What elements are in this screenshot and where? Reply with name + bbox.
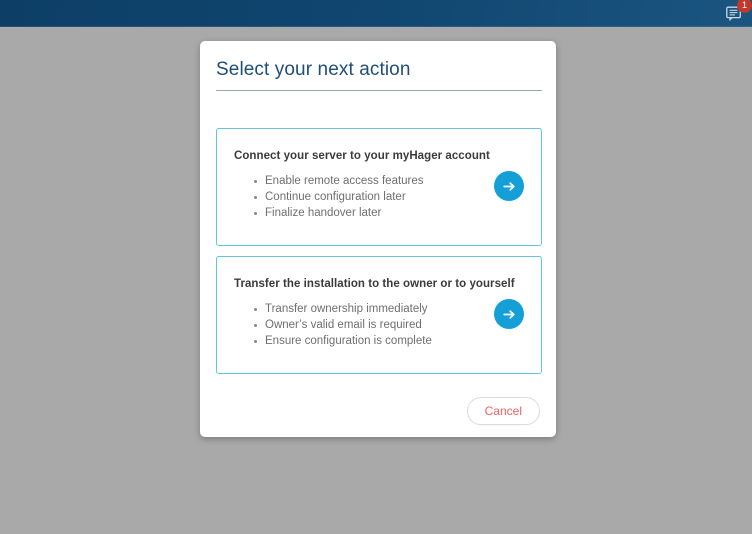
top-header-bar: 1 [0, 0, 752, 27]
cancel-button[interactable]: Cancel [467, 397, 540, 425]
list-item: Continue configuration later [265, 189, 424, 205]
notification-badge: 1 [737, 0, 752, 13]
action-card-transfer-installation[interactable]: Transfer the installation to the owner o… [216, 256, 542, 374]
messages-button[interactable]: 1 [724, 1, 750, 27]
card-heading: Connect your server to your myHager acco… [234, 150, 490, 162]
card-bullet-list: Enable remote access features Continue c… [249, 173, 424, 221]
select-action-modal: Select your next action Connect your ser… [200, 41, 556, 437]
card-heading: Transfer the installation to the owner o… [234, 278, 515, 290]
card-bullet-list: Transfer ownership immediately Owner’s v… [249, 301, 432, 349]
modal-footer: Cancel [216, 391, 540, 431]
app-root: 1 Select your next action Connect your s… [0, 0, 752, 534]
action-card-list: Connect your server to your myHager acco… [216, 128, 542, 374]
transfer-installation-arrow-button[interactable] [494, 299, 524, 329]
header-actions: 1 [724, 0, 752, 27]
list-item: Transfer ownership immediately [265, 301, 432, 317]
list-item: Enable remote access features [265, 173, 424, 189]
arrow-right-icon [501, 306, 518, 323]
connect-server-arrow-button[interactable] [494, 171, 524, 201]
list-item: Owner’s valid email is required [265, 317, 432, 333]
list-item: Finalize handover later [265, 205, 424, 221]
list-item: Ensure configuration is complete [265, 333, 432, 349]
modal-title: Select your next action [216, 59, 542, 91]
arrow-right-icon [501, 178, 518, 195]
action-card-connect-server[interactable]: Connect your server to your myHager acco… [216, 128, 542, 246]
